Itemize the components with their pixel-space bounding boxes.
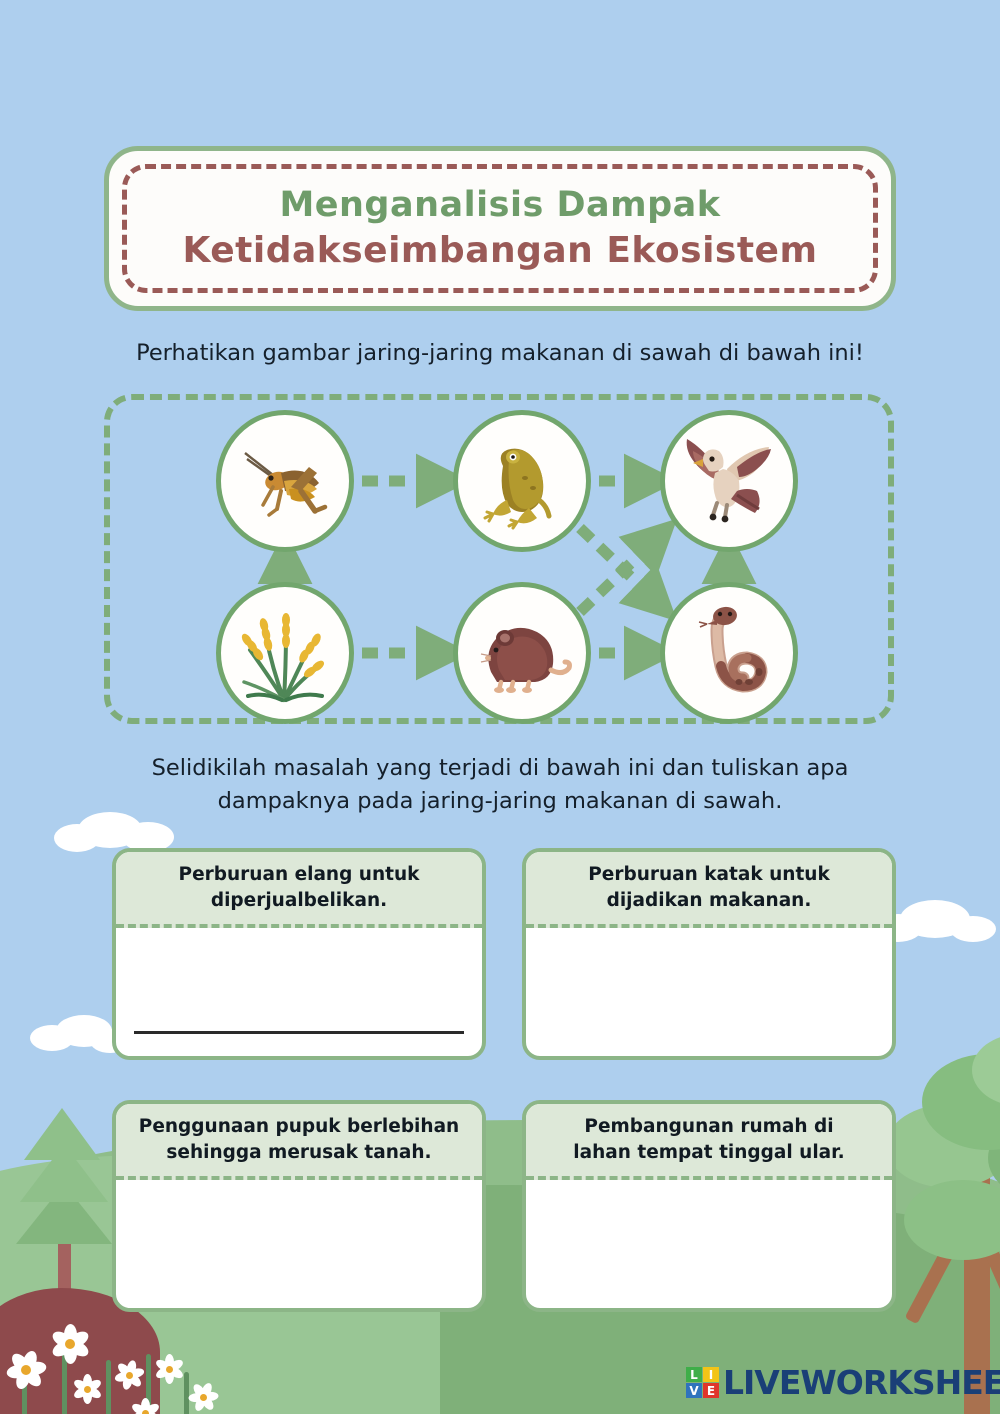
- arrow-mouse-eagle: [580, 540, 655, 612]
- daisy-flower-icon: [186, 1380, 220, 1414]
- answer-box-input-area[interactable]: [526, 928, 892, 1056]
- page-title-line-2: Ketidakseimbangan Ekosistem: [183, 228, 818, 274]
- answer-rule-line: [134, 1031, 464, 1034]
- answer-box: Perburuan katak untuk dijadikan makanan.: [522, 848, 896, 1060]
- liveworksheets-wordmark: LIVEWORKSHEETS: [723, 1366, 1000, 1399]
- daisy-flower-icon: [152, 1352, 186, 1386]
- logo-tile-e: E: [703, 1383, 719, 1398]
- title-inner-frame: Menganalisis Dampak Ketidakseimbangan Ek…: [122, 164, 878, 293]
- rice-plant-icon: [228, 596, 342, 710]
- answer-box-prompt: Perburuan katak untuk dijadikan makanan.: [526, 852, 892, 928]
- instruction-text-1: Perhatikan gambar jaring-jaring makanan …: [90, 337, 910, 370]
- cloud-icon: [78, 812, 142, 848]
- answer-box-prompt-line-2: diperjualbelikan.: [211, 888, 387, 914]
- pine-tier: [24, 1108, 100, 1160]
- instruction-text-2: Selidikilah masalah yang terjadi di bawa…: [90, 752, 910, 817]
- answer-box-prompt-line-1: Perburuan katak untuk: [588, 862, 830, 888]
- arrow-frog-snake: [580, 528, 655, 600]
- cloud-icon: [56, 1015, 112, 1047]
- grasshopper-icon: [229, 425, 341, 537]
- food-web-node-frog: [453, 410, 591, 552]
- page-title-line-1: Menganalisis Dampak: [279, 183, 720, 228]
- answer-box-prompt-line-1: Perburuan elang untuk: [179, 862, 420, 888]
- food-web-node-eagle: [660, 410, 798, 552]
- cloud-icon: [900, 900, 970, 938]
- answer-box-prompt-line-2: lahan tempat tinggal ular.: [573, 1140, 844, 1166]
- logo-tile-i: I: [703, 1367, 719, 1382]
- answer-box-input-area[interactable]: [526, 1180, 892, 1308]
- mouse-icon: [465, 598, 579, 708]
- worksheet-page: Menganalisis Dampak Ketidakseimbangan Ek…: [0, 0, 1000, 1414]
- daisy-flower-icon: [128, 1396, 162, 1414]
- title-banner: Menganalisis Dampak Ketidakseimbangan Ek…: [104, 146, 896, 311]
- liveworksheets-logo-tiles: L I V E: [686, 1367, 719, 1398]
- daisy-flower-icon: [4, 1348, 48, 1392]
- answer-box-prompt: Pembangunan rumah di lahan tempat tingga…: [526, 1104, 892, 1180]
- answer-box-input-area[interactable]: [116, 1180, 482, 1308]
- food-web-node-snake: [660, 582, 798, 724]
- logo-tile-l: L: [686, 1367, 702, 1382]
- food-web-node-rice-plant: [216, 582, 354, 724]
- eagle-icon: [671, 425, 787, 537]
- snake-icon: [673, 596, 785, 710]
- daisy-flower-icon: [70, 1372, 104, 1406]
- flower-stem: [106, 1360, 111, 1414]
- food-web-node-grasshopper: [216, 410, 354, 552]
- answer-box: Perburuan elang untuk diperjualbelikan.: [112, 848, 486, 1060]
- answer-box-prompt-line-2: sehingga merusak tanah.: [166, 1140, 431, 1166]
- answer-box-prompt-line-1: Pembangunan rumah di: [584, 1114, 833, 1140]
- daisy-flower-icon: [48, 1322, 92, 1366]
- answer-box: Penggunaan pupuk berlebihan sehingga mer…: [112, 1100, 486, 1312]
- liveworksheets-logo[interactable]: L I V E LIVEWORKSHEETS: [686, 1366, 1000, 1399]
- daisy-flower-icon: [112, 1358, 146, 1392]
- answer-box-prompt-line-1: Penggunaan pupuk berlebihan: [139, 1114, 459, 1140]
- answer-box-prompt: Penggunaan pupuk berlebihan sehingga mer…: [116, 1104, 482, 1180]
- logo-tile-v: V: [686, 1383, 702, 1398]
- frog-icon: [467, 426, 577, 536]
- food-web-diagram: [104, 394, 894, 724]
- answer-box-input-area[interactable]: [116, 928, 482, 1056]
- answer-box-prompt-line-2: dijadikan makanan.: [607, 888, 812, 914]
- answer-box: Pembangunan rumah di lahan tempat tingga…: [522, 1100, 896, 1312]
- food-web-node-mouse: [453, 582, 591, 724]
- answer-box-prompt: Perburuan elang untuk diperjualbelikan.: [116, 852, 482, 928]
